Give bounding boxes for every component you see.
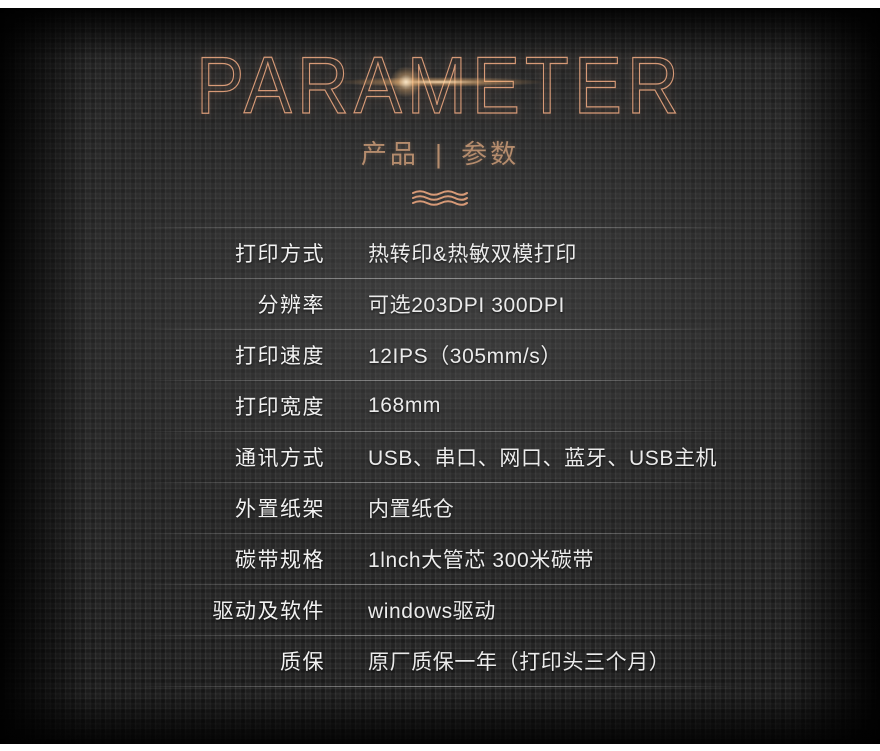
wordmark: PARAMETER xyxy=(196,46,684,118)
spec-label: 打印方式 xyxy=(140,238,325,268)
table-row: 质保原厂质保一年（打印头三个月） xyxy=(140,636,740,686)
spec-value: windows驱动 xyxy=(325,595,740,625)
spec-value: 可选203DPI 300DPI xyxy=(325,289,740,319)
table-row: 驱动及软件windows驱动 xyxy=(140,585,740,635)
page-title: PARAMETER xyxy=(196,46,684,127)
spec-value: 168mm xyxy=(325,394,740,418)
spec-value: 原厂质保一年（打印头三个月） xyxy=(325,646,740,676)
spec-label: 质保 xyxy=(140,646,325,676)
table-row: 打印方式热转印&热敏双模打印 xyxy=(140,228,740,278)
subtitle-left-text: 产品 xyxy=(361,139,419,169)
spec-label: 打印速度 xyxy=(140,340,325,370)
banner-content: PARAMETER 产品 | 参数 xyxy=(0,8,880,744)
table-divider xyxy=(140,635,740,636)
table-divider xyxy=(140,482,740,483)
subtitle-right-text: 参数 xyxy=(461,139,519,169)
table-divider xyxy=(140,380,740,381)
spec-label: 驱动及软件 xyxy=(140,595,325,625)
spec-label: 通讯方式 xyxy=(140,442,325,472)
spec-value: 热转印&热敏双模打印 xyxy=(325,238,740,268)
table-divider xyxy=(140,278,740,279)
spec-value: 1lnch大管芯 300米碳带 xyxy=(325,544,740,574)
table-divider xyxy=(140,227,740,228)
table-divider xyxy=(140,533,740,534)
spec-value: 内置纸仓 xyxy=(325,493,740,523)
table-row: 通讯方式USB、串口、网口、蓝牙、USB主机 xyxy=(140,432,740,482)
table-divider xyxy=(140,584,740,585)
table-divider xyxy=(140,431,740,432)
spec-label: 碳带规格 xyxy=(140,544,325,574)
product-parameter-banner: PARAMETER 产品 | 参数 xyxy=(0,0,880,751)
table-row: 分辨率可选203DPI 300DPI xyxy=(140,279,740,329)
spec-value: USB、串口、网口、蓝牙、USB主机 xyxy=(325,442,740,472)
table-row: 外置纸架内置纸仓 xyxy=(140,483,740,533)
textured-panel: PARAMETER 产品 | 参数 xyxy=(0,8,880,744)
page-subtitle: 产品 | 参数 xyxy=(0,134,880,171)
table-row: 碳带规格1lnch大管芯 300米碳带 xyxy=(140,534,740,584)
spec-value: 12IPS（305mm/s） xyxy=(325,340,740,370)
spec-label: 打印宽度 xyxy=(140,391,325,421)
table-divider xyxy=(140,329,740,330)
banner-header: PARAMETER 产品 | 参数 xyxy=(0,46,880,207)
subtitle-divider-text: | xyxy=(435,139,445,170)
wave-divider-icon xyxy=(0,189,880,207)
spec-label: 分辨率 xyxy=(140,289,325,319)
spec-table: 打印方式热转印&热敏双模打印分辨率可选203DPI 300DPI打印速度12IP… xyxy=(140,227,740,687)
spec-label: 外置纸架 xyxy=(140,493,325,523)
table-divider xyxy=(140,686,740,687)
table-row: 打印宽度168mm xyxy=(140,381,740,431)
table-row: 打印速度12IPS（305mm/s） xyxy=(140,330,740,380)
